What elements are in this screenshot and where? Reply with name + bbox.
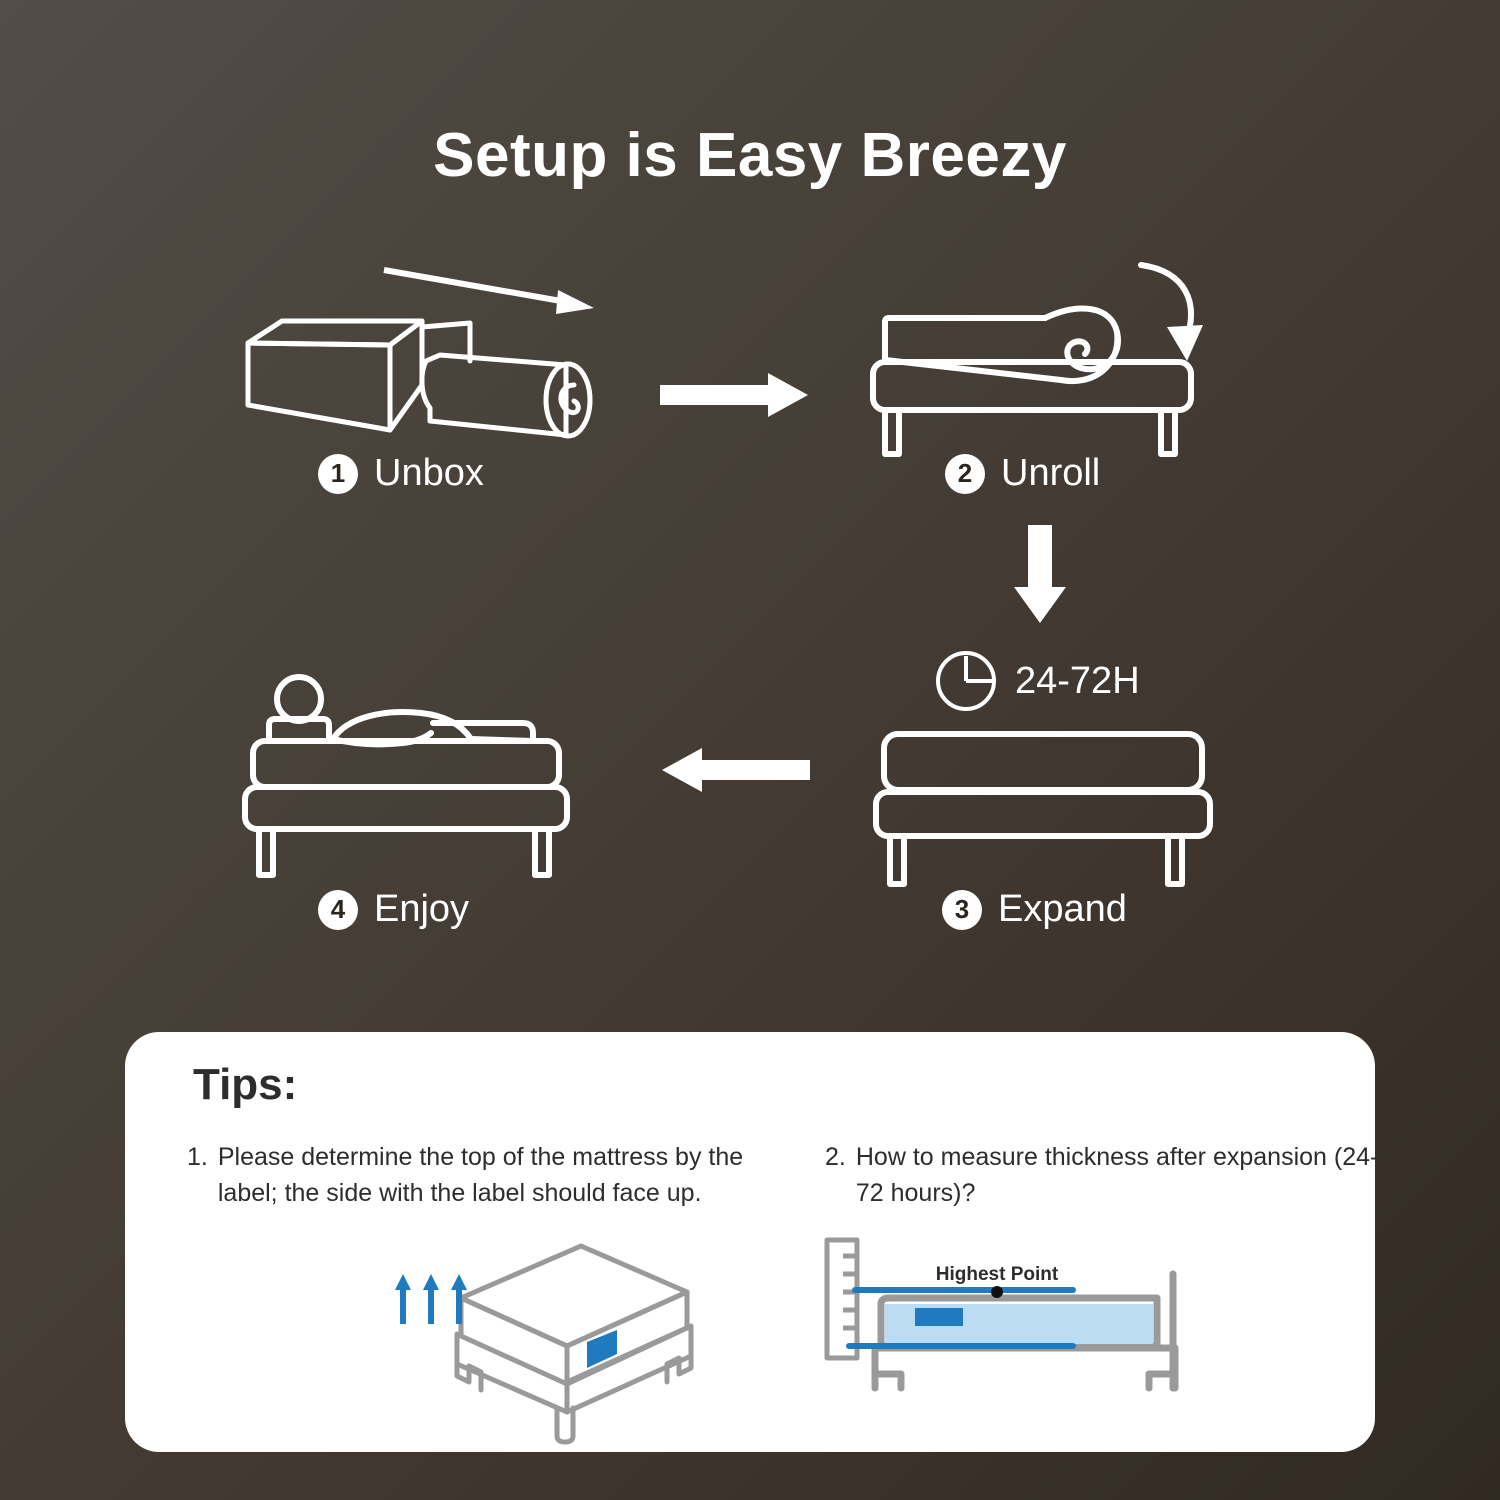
step-label-expand: Expand — [998, 888, 1127, 931]
step-badge-4: 4 — [318, 890, 358, 930]
step-badge-3: 3 — [942, 890, 982, 930]
clock-icon — [935, 650, 997, 712]
tip-text-1: Please determine the top of the mattress… — [218, 1140, 747, 1211]
step-label-enjoy: Enjoy — [374, 888, 469, 931]
tips-card: Tips: 1. Please determine the top of the… — [125, 1032, 1375, 1452]
step-caption-expand: 3 Expand — [942, 888, 1127, 931]
tip-item-1: 1. Please determine the top of the mattr… — [187, 1140, 747, 1211]
motion-arrow-icon — [380, 260, 610, 320]
step-badge-1: 1 — [318, 454, 358, 494]
step-caption-unbox: 1 Unbox — [318, 452, 484, 495]
arrow-step1-to-step2-icon — [660, 370, 810, 420]
tip-item-2: 2. How to measure thickness after expans… — [825, 1140, 1385, 1211]
bed-side-view-with-ruler-icon: Highest Point — [815, 1222, 1215, 1432]
bed-with-expanded-mattress-icon — [868, 728, 1218, 888]
arrow-step2-to-step3-icon — [1010, 525, 1070, 625]
step-label-unroll: Unroll — [1001, 452, 1100, 495]
step-badge-2: 2 — [945, 454, 985, 494]
step-caption-unroll: 2 Unroll — [945, 452, 1100, 495]
highest-point-annotation: Highest Point — [936, 1264, 1059, 1285]
page-title: Setup is Easy Breezy — [0, 120, 1500, 191]
arrow-step3-to-step4-icon — [660, 745, 810, 795]
infographic-root: Setup is Easy Breezy — [0, 0, 1500, 1500]
tip-text-2: How to measure thickness after expansion… — [856, 1140, 1385, 1211]
duration-label: 24-72H — [1015, 660, 1140, 703]
tip-number-1: 1. — [187, 1140, 208, 1211]
tips-heading: Tips: — [193, 1060, 297, 1110]
person-sleeping-on-bed-icon — [235, 655, 595, 880]
tip-number-2: 2. — [825, 1140, 846, 1211]
rotate-arrow-icon — [1123, 257, 1233, 377]
expansion-duration: 24-72H — [935, 650, 1140, 712]
isometric-bed-with-label-icon — [385, 1240, 715, 1450]
step-label-unbox: Unbox — [374, 452, 484, 495]
step-caption-enjoy: 4 Enjoy — [318, 888, 469, 931]
